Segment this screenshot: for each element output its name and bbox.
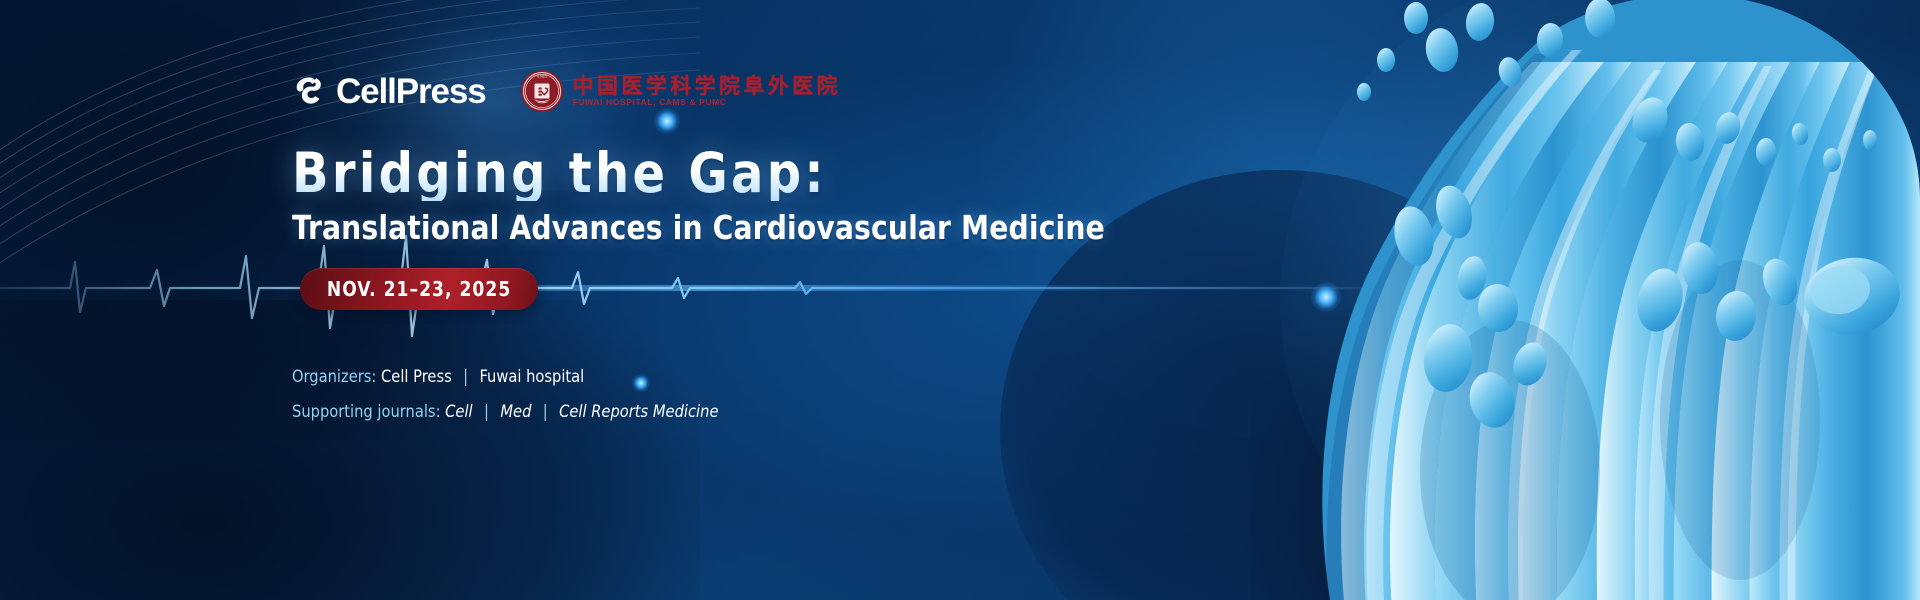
organizers-line: Organizers: Cell Press | Fuwai hospital [292, 369, 584, 386]
light-spark [1311, 282, 1341, 312]
fuwai-hospital-logo[interactable]: 阜外医院 中国医学科学院阜外医院 FUWAI HOSPITAL, CAMS & … [520, 69, 841, 113]
banner-subtitle: Translational Advances in Cardiovascular… [292, 211, 1105, 244]
journals-separator: | [536, 402, 554, 422]
journal-item: Cell Reports Medicine [559, 402, 718, 422]
supporting-journals-label: Supporting journals: [292, 402, 441, 422]
abstract-heart-sculpture [1180, 0, 1920, 600]
light-spark [632, 374, 650, 392]
logo-row: CellPress 阜外医院 [292, 68, 841, 114]
fuwai-hospital-name-block: 中国医学科学院阜外医院 FUWAI HOSPITAL, CAMS & PUMC [573, 75, 841, 107]
cell-press-wordmark: CellPress [336, 74, 486, 109]
organizer-item: Cell Press [381, 367, 452, 387]
cell-press-logo[interactable]: CellPress [292, 74, 486, 109]
fuwai-hospital-name-en: FUWAI HOSPITAL, CAMS & PUMC [573, 98, 841, 107]
conference-banner: CellPress 阜外医院 [0, 0, 1920, 600]
organizers-separator: | [456, 367, 474, 387]
journal-item: Med [500, 402, 531, 422]
journal-item: Cell [445, 402, 472, 422]
fuwai-hospital-seal-icon: 阜外医院 [520, 69, 564, 113]
event-date-badge: NOV. 21–23, 2025 [300, 268, 538, 310]
svg-text:阜外医院: 阜外医院 [536, 75, 547, 79]
supporting-journals-line: Supporting journals: Cell | Med | Cell R… [292, 404, 718, 421]
fuwai-hospital-name-cn: 中国医学科学院阜外医院 [573, 75, 841, 97]
event-date-text: NOV. 21–23, 2025 [327, 277, 511, 301]
organizers-label: Organizers: [292, 367, 376, 387]
cellpress-logo-icon [292, 74, 326, 108]
organizer-item: Fuwai hospital [479, 367, 584, 387]
banner-title: Bridging the Gap: [292, 146, 827, 201]
journals-separator: | [477, 402, 495, 422]
